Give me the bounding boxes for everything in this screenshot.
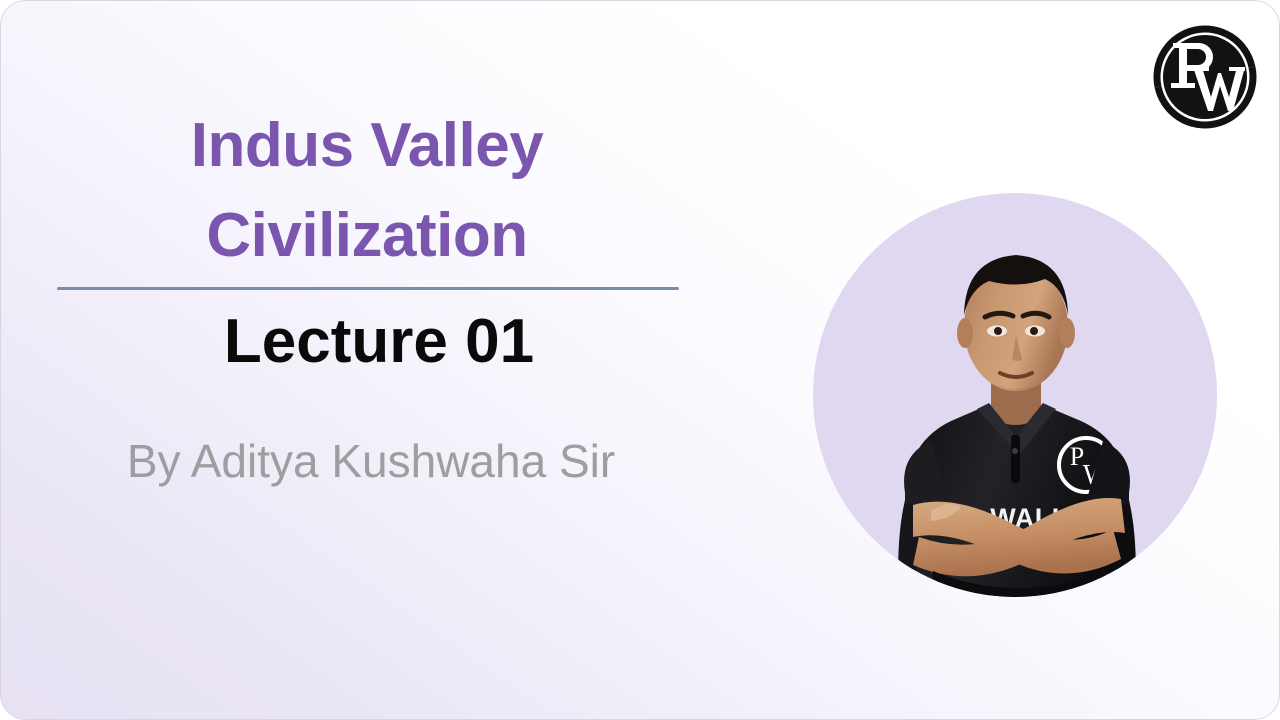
instructor-photo: P W SSC WALLAH [813, 193, 1217, 597]
presenter-name: By Aditya Kushwaha Sir [1, 431, 741, 491]
pw-logo [1137, 9, 1273, 145]
lecture-title-slide: Indus Valley Civilization Lecture 01 By … [0, 0, 1280, 720]
portrait-disc: P W SSC WALLAH [813, 193, 1217, 597]
slide-text-column: Indus Valley Civilization Lecture 01 By … [1, 101, 733, 281]
lecture-number: Lecture 01 [1, 299, 757, 385]
title-line-2: Civilization [1, 191, 733, 281]
title-line-1: Indus Valley [1, 101, 733, 191]
title-divider [57, 287, 679, 290]
portrait-block: P W SSC WALLAH [789, 149, 1241, 607]
